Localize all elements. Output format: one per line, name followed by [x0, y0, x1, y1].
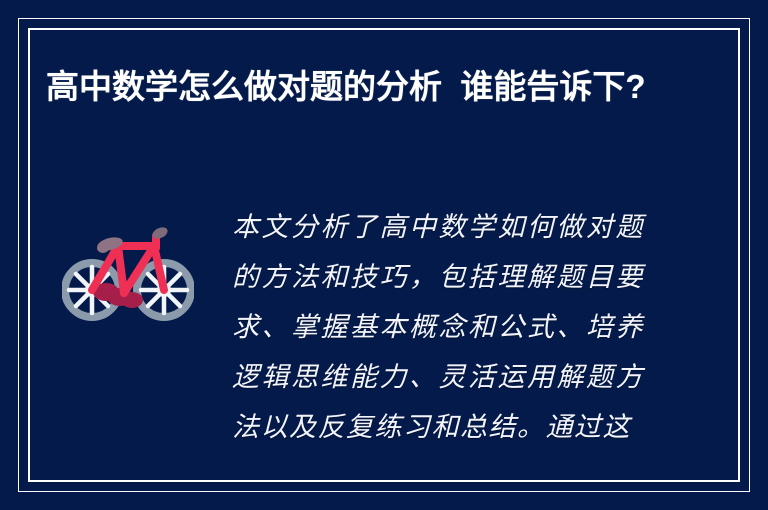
bicycle-icon	[62, 218, 194, 328]
article-body: 本文分析了高中数学如何做对题的方法和技巧，包括理解题目要求、掌握基本概念和公式、…	[232, 202, 644, 452]
article-content: 本文分析了高中数学如何做对题的方法和技巧，包括理解题目要求、掌握基本概念和公式、…	[46, 196, 722, 470]
article-card: 高中数学怎么做对题的分析 谁能告诉下?	[0, 0, 768, 510]
page-title: 高中数学怎么做对题的分析 谁能告诉下?	[46, 62, 686, 111]
